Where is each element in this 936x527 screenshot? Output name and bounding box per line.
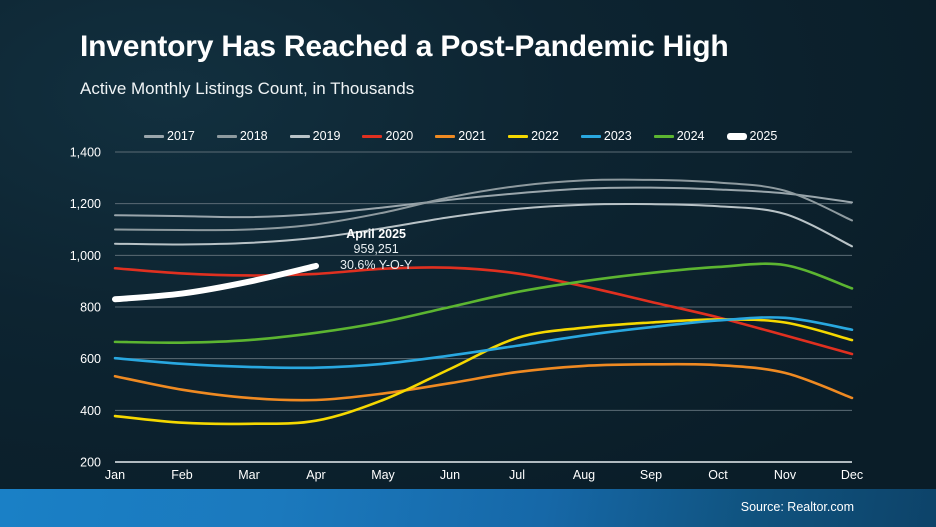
x-axis-tick-apr: Apr [306,468,325,482]
series-line-2019[interactable] [115,204,852,246]
slide-canvas: Inventory Has Reached a Post-Pandemic Hi… [0,0,936,527]
x-axis-tick-jan: Jan [105,468,125,482]
x-axis-tick-may: May [371,468,395,482]
x-axis-tick-mar: Mar [238,468,260,482]
y-axis-tick-1000: 1,000 [70,249,101,263]
series-line-2021[interactable] [115,364,852,400]
y-axis-tick-1400: 1,400 [70,146,101,160]
chart-plot-area: 2004006008001,0001,2001,400JanFebMarAprM… [0,0,936,490]
x-axis-tick-nov: Nov [774,468,797,482]
x-axis-tick-feb: Feb [171,468,193,482]
x-axis-tick-dec: Dec [841,468,863,482]
x-axis-tick-sep: Sep [640,468,662,482]
y-axis-tick-800: 800 [80,301,101,315]
x-axis-tick-jun: Jun [440,468,460,482]
line-chart-svg: 2004006008001,0001,2001,400JanFebMarAprM… [0,0,936,490]
y-axis-tick-400: 400 [80,404,101,418]
y-axis-tick-1200: 1,200 [70,197,101,211]
x-axis-tick-aug: Aug [573,468,595,482]
x-axis-tick-oct: Oct [708,468,728,482]
series-line-2022[interactable] [115,319,852,424]
series-line-2018[interactable] [115,180,852,230]
y-axis-tick-200: 200 [80,456,101,470]
source-attribution: Source: Realtor.com [741,500,854,514]
x-axis-tick-jul: Jul [509,468,525,482]
y-axis-tick-600: 600 [80,352,101,366]
